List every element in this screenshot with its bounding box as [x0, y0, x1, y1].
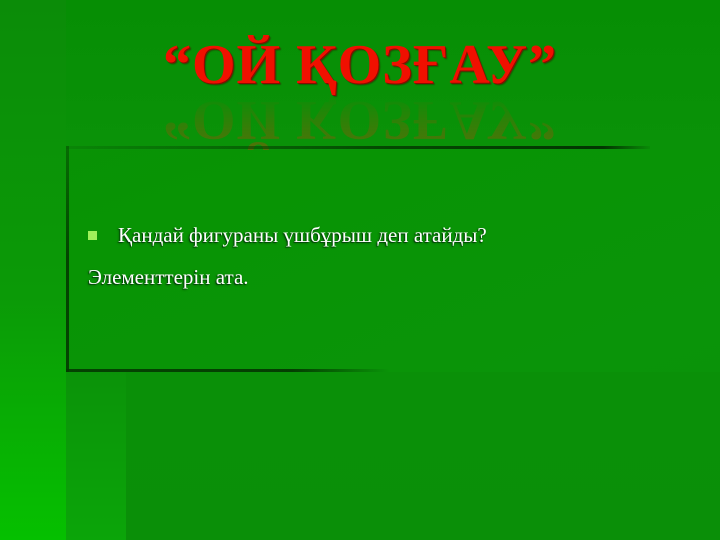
background-lower-panel [126, 372, 720, 540]
bullet-item-1-text: Қандай фигураны үшбұрыш деп атайды? [118, 214, 487, 256]
body-text-block: Қандай фигураны үшбұрыш деп атайды? Элем… [88, 214, 648, 298]
background-top-sheen [66, 0, 720, 150]
bullet-item-2-text: Элементтерін ата. [88, 265, 249, 289]
content-box-left-rule [66, 146, 69, 372]
bullet-item-1: Қандай фигураны үшбұрыш деп атайды? [88, 214, 648, 256]
presentation-slide: “ОЙ ҚОЗҒАУ” “ОЙ ҚОЗҒАУ” Қандай фигураны … [0, 0, 720, 540]
background-left-band [0, 0, 66, 540]
content-box-bottom-rule [66, 369, 390, 372]
content-placeholder: Қандай фигураны үшбұрыш деп атайды? Элем… [66, 146, 650, 372]
content-box-top-rule [66, 146, 650, 149]
background-lower-left-band [66, 372, 126, 540]
bullet-item-2: Элементтерін ата. [88, 256, 648, 298]
square-bullet-icon [88, 231, 97, 240]
